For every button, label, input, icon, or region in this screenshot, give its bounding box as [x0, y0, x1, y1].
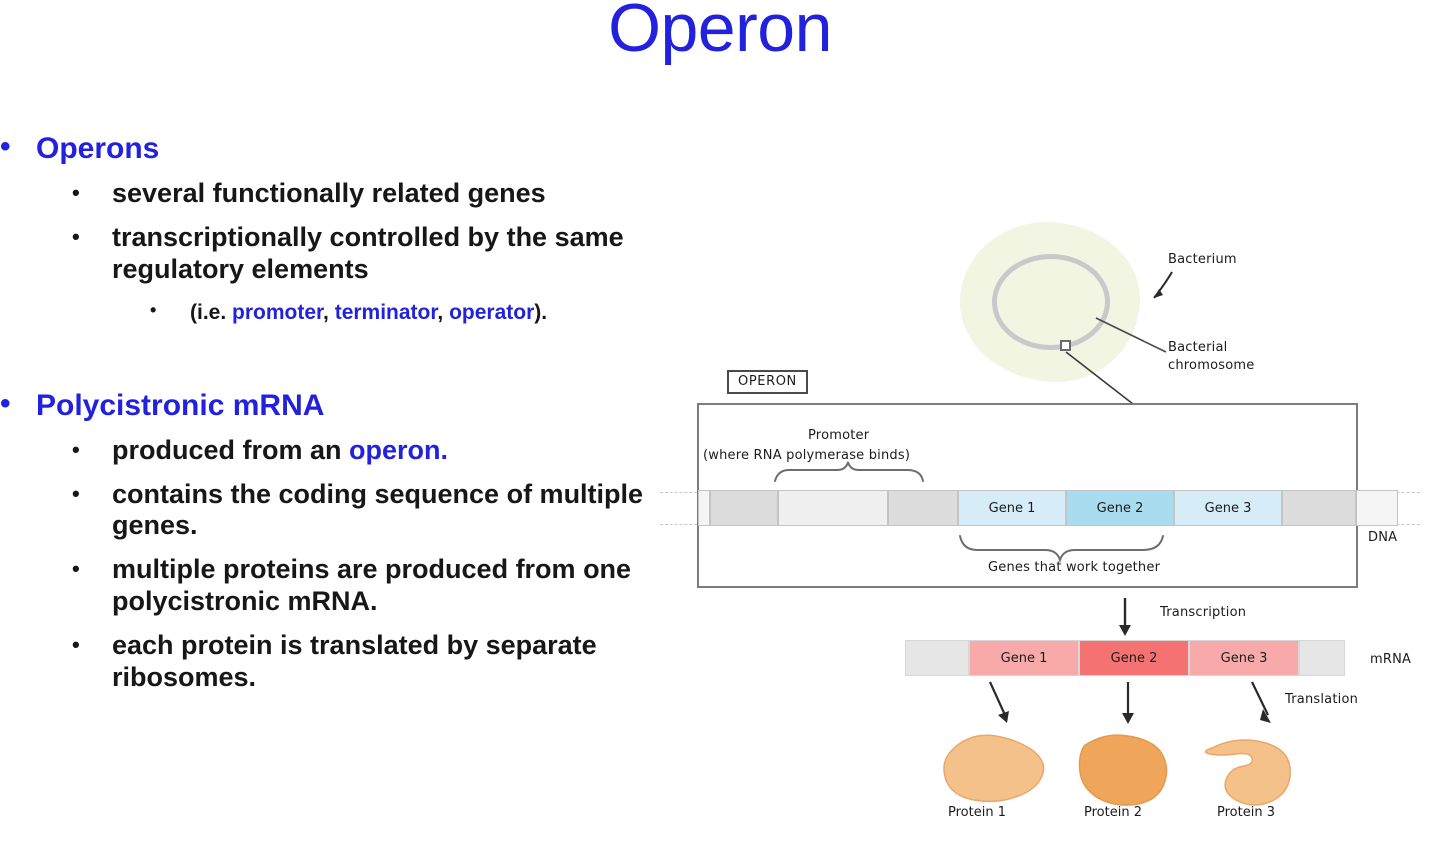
- bullet-marker-icon: •: [72, 223, 80, 251]
- dna-segment-operator: [888, 490, 958, 526]
- bullet-coding-sequence-label: contains the coding sequence of multiple…: [112, 479, 643, 541]
- produced-from-accent: operon.: [349, 435, 448, 465]
- mrna-segment-5utr: [905, 640, 969, 676]
- protein-2-shape: [1080, 735, 1167, 805]
- protein-3-label: Protein 3: [1217, 805, 1275, 820]
- bullet-marker-icon: •: [0, 132, 11, 162]
- translation-arrow-1-line: [990, 682, 1005, 715]
- bullet-marker-icon: •: [72, 480, 80, 508]
- promoter-label-line2: (where RNA polymerase binds): [703, 448, 910, 463]
- bullet-separate-ribosomes-label: each protein is translated by separate r…: [112, 630, 597, 692]
- dna-gene-3: Gene 3: [1174, 490, 1282, 526]
- protein-3-shape: [1205, 740, 1290, 805]
- bullet-several-genes-label: several functionally related genes: [112, 178, 546, 208]
- promoter-label-line1: Promoter: [808, 428, 869, 443]
- section-spacer: [0, 325, 690, 389]
- dna-dash-left-top: [660, 492, 702, 493]
- term-promoter: promoter: [232, 301, 323, 324]
- translation-arrowhead-2-icon: [1122, 713, 1134, 724]
- mrna-strand: Gene 1 Gene 2 Gene 3: [905, 640, 1345, 676]
- page-title: Operon: [0, 0, 1440, 62]
- transcription-arrowhead-icon: [1119, 625, 1131, 636]
- protein-2-label: Protein 2: [1084, 805, 1142, 820]
- bullet-produced-from-operon: •produced from an operon.: [0, 435, 690, 467]
- bullet-transcriptional-control-label: transcriptionally controlled by the same…: [112, 222, 624, 284]
- comma-1: ,: [323, 301, 335, 324]
- mrna-gene-2: Gene 2: [1079, 640, 1189, 676]
- dna-strand: Gene 1 Gene 2 Gene 3: [698, 490, 1398, 526]
- bullet-marker-icon: •: [72, 631, 80, 659]
- bacterium-arrowhead-icon: [1154, 289, 1163, 298]
- dna-gene-1: Gene 1: [958, 490, 1066, 526]
- translation-arrowhead-1-icon: [998, 711, 1009, 723]
- operon-diagram: Bacterium Bacterial chromosome OPERON Pr…: [660, 200, 1440, 843]
- mrna-gene-1: Gene 1: [969, 640, 1079, 676]
- bullet-list: • Operons • several functionally related…: [0, 132, 690, 694]
- bacterial-chromosome-ring: [992, 254, 1110, 350]
- regulatory-prefix: (i.e.: [190, 301, 232, 324]
- bacterial-chromosome-label-line2: chromosome: [1168, 358, 1254, 373]
- translation-label: Translation: [1285, 692, 1358, 707]
- bullet-operons-label: Operons: [36, 132, 159, 165]
- dna-segment-flank-right: [1356, 490, 1398, 526]
- dna-gene-2: Gene 2: [1066, 490, 1174, 526]
- bullet-polycistronic-mrna: • Polycistronic mRNA: [0, 389, 690, 423]
- operon-tag-label: OPERON: [727, 370, 808, 394]
- bullet-several-genes: • several functionally related genes: [0, 178, 690, 210]
- bullet-marker-icon: •: [72, 555, 80, 583]
- dna-label: DNA: [1368, 530, 1397, 545]
- mrna-label: mRNA: [1370, 652, 1411, 667]
- bullet-operons: • Operons: [0, 132, 690, 166]
- bullet-regulatory-examples: •(i.e. promoter, terminator, operator).: [0, 300, 690, 325]
- comma-2: ,: [437, 301, 449, 324]
- produced-from-text: produced from an: [112, 435, 349, 465]
- mrna-gene-3: Gene 3: [1189, 640, 1299, 676]
- bullet-transcriptional-control: • transcriptionally controlled by the sa…: [0, 222, 690, 286]
- translation-arrow-3-line: [1252, 682, 1268, 715]
- bullet-marker-icon: •: [150, 300, 156, 322]
- term-operator: operator: [449, 301, 534, 324]
- protein-1-label: Protein 1: [948, 805, 1006, 820]
- dna-segment-terminator: [1282, 490, 1356, 526]
- operon-locus-marker: [1060, 340, 1071, 351]
- bullet-polycistronic-mrna-label: Polycistronic mRNA: [36, 389, 324, 422]
- dna-segment-promoter: [778, 490, 888, 526]
- genes-brace-label: Genes that work together: [988, 560, 1160, 575]
- dna-dash-left-bottom: [660, 524, 702, 525]
- bullet-marker-icon: •: [72, 436, 80, 464]
- bullet-multiple-proteins: • multiple proteins are produced from on…: [0, 554, 690, 618]
- bacterium-label: Bacterium: [1168, 252, 1237, 267]
- mrna-segment-3utr: [1299, 640, 1345, 676]
- translation-arrowhead-3-icon: [1260, 709, 1271, 723]
- bullet-coding-sequence: • contains the coding sequence of multip…: [0, 479, 690, 543]
- bullet-marker-icon: •: [72, 179, 80, 207]
- bullet-multiple-proteins-label: multiple proteins are produced from one …: [112, 554, 631, 616]
- bacterial-chromosome-label-line1: Bacterial: [1168, 340, 1227, 355]
- bullet-separate-ribosomes: • each protein is translated by separate…: [0, 630, 690, 694]
- transcription-label: Transcription: [1160, 605, 1246, 620]
- bullet-marker-icon: •: [0, 389, 11, 419]
- regulatory-suffix: ).: [534, 301, 547, 324]
- dna-segment-upstream: [710, 490, 778, 526]
- term-terminator: terminator: [335, 301, 438, 324]
- protein-1-shape: [944, 735, 1044, 801]
- dna-segment-flank-left: [698, 490, 710, 526]
- bacterium-arrow-icon: [1154, 272, 1172, 298]
